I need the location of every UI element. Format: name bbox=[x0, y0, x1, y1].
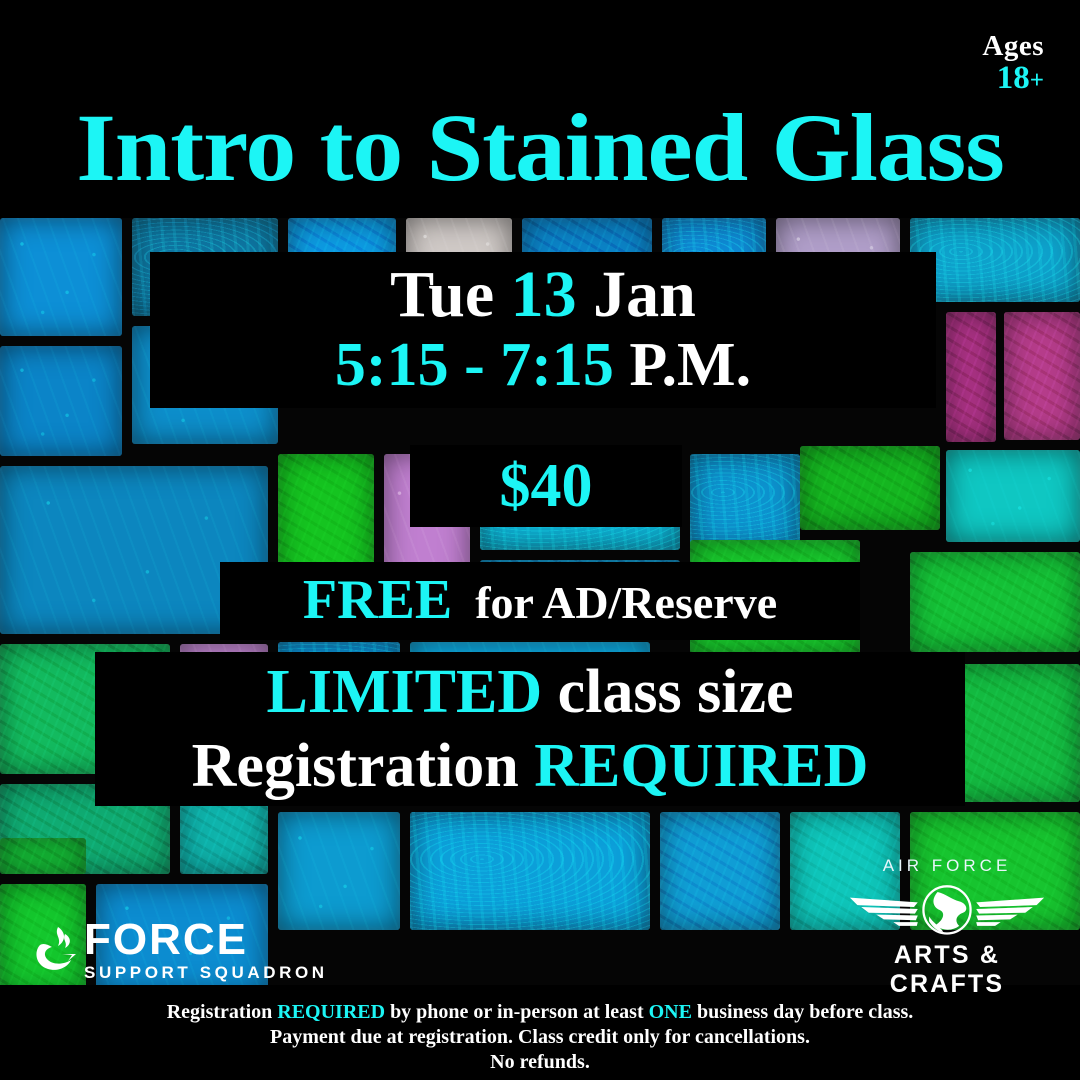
winged-globe-icon bbox=[842, 877, 1052, 939]
footer-reg-e: business day before class. bbox=[692, 1001, 913, 1023]
footer-line-1: Registration REQUIRED by phone or in-per… bbox=[0, 1000, 1080, 1025]
page-title: Intro to Stained Glass bbox=[0, 95, 1080, 200]
free-label: FREE bbox=[303, 569, 452, 631]
limited-line: LIMITED class size bbox=[267, 655, 794, 729]
free-qualifier: for AD/Reserve bbox=[475, 577, 777, 628]
footer-required: REQUIRED bbox=[277, 1001, 385, 1023]
flame-swoosh-icon bbox=[32, 925, 78, 975]
required-label: REQUIRED bbox=[534, 732, 868, 800]
time-range: 5:15 - 7:15 bbox=[335, 331, 614, 399]
glass-pane bbox=[910, 552, 1080, 652]
ages-plus: + bbox=[1030, 67, 1044, 94]
glass-pane bbox=[0, 346, 122, 456]
class-size-label: class size bbox=[542, 658, 793, 726]
fss-logo-text: FORCE SUPPORT SQUADRON bbox=[84, 918, 328, 981]
footer-line-3: No refunds. bbox=[0, 1050, 1080, 1075]
glass-pane bbox=[946, 312, 996, 442]
glass-pane bbox=[0, 218, 122, 336]
footer-line-2: Payment due at registration. Class credi… bbox=[0, 1025, 1080, 1050]
footer-disclaimer: Registration REQUIRED by phone or in-per… bbox=[0, 1000, 1080, 1075]
registration-line: Registration REQUIRED bbox=[192, 729, 869, 803]
fss-name: FORCE bbox=[84, 918, 328, 962]
ages-badge: Ages 18+ bbox=[982, 32, 1044, 95]
ages-number: 18 bbox=[997, 60, 1030, 96]
date-month: Jan bbox=[577, 258, 696, 331]
ages-value: 18+ bbox=[982, 62, 1044, 96]
date-weekday: Tue bbox=[390, 258, 510, 331]
footer-reg-a: Registration bbox=[167, 1001, 278, 1023]
date-day-number: 13 bbox=[511, 258, 577, 331]
poster-canvas: Ages 18+ Intro to Stained Glass Tue 13 J… bbox=[0, 0, 1080, 1080]
registration-label: Registration bbox=[192, 732, 535, 800]
date-line: Tue 13 Jan bbox=[390, 260, 696, 330]
time-line: 5:15 - 7:15 P.M. bbox=[335, 330, 751, 400]
glass-pane bbox=[800, 446, 940, 530]
date-time-block: Tue 13 Jan 5:15 - 7:15 P.M. bbox=[150, 252, 936, 408]
free-line: FREE for AD/Reserve bbox=[303, 569, 777, 634]
glass-pane bbox=[410, 812, 650, 930]
limited-label: LIMITED bbox=[267, 658, 543, 726]
fss-tagline: SUPPORT SQUADRON bbox=[84, 964, 328, 981]
time-meridiem: P.M. bbox=[614, 331, 751, 399]
glass-pane bbox=[0, 838, 86, 874]
fss-logo: FORCE SUPPORT SQUADRON bbox=[32, 918, 328, 981]
glass-pane bbox=[660, 812, 780, 930]
price-block: $40 bbox=[410, 445, 682, 527]
glass-pane bbox=[690, 454, 800, 550]
air-force-label: AIR FORCE bbox=[842, 856, 1052, 876]
arts-crafts-name: ARTS & CRAFTS bbox=[842, 941, 1052, 999]
glass-pane bbox=[278, 812, 400, 930]
footer-reg-c: by phone or in-person at least bbox=[385, 1001, 649, 1023]
ages-label: Ages bbox=[982, 32, 1044, 62]
free-block: FREE for AD/Reserve bbox=[220, 562, 860, 640]
footer-one: ONE bbox=[649, 1001, 692, 1023]
limited-registration-block: LIMITED class size Registration REQUIRED bbox=[95, 652, 965, 806]
glass-pane bbox=[1004, 312, 1080, 440]
glass-pane bbox=[946, 450, 1080, 542]
price-value: $40 bbox=[500, 453, 593, 519]
